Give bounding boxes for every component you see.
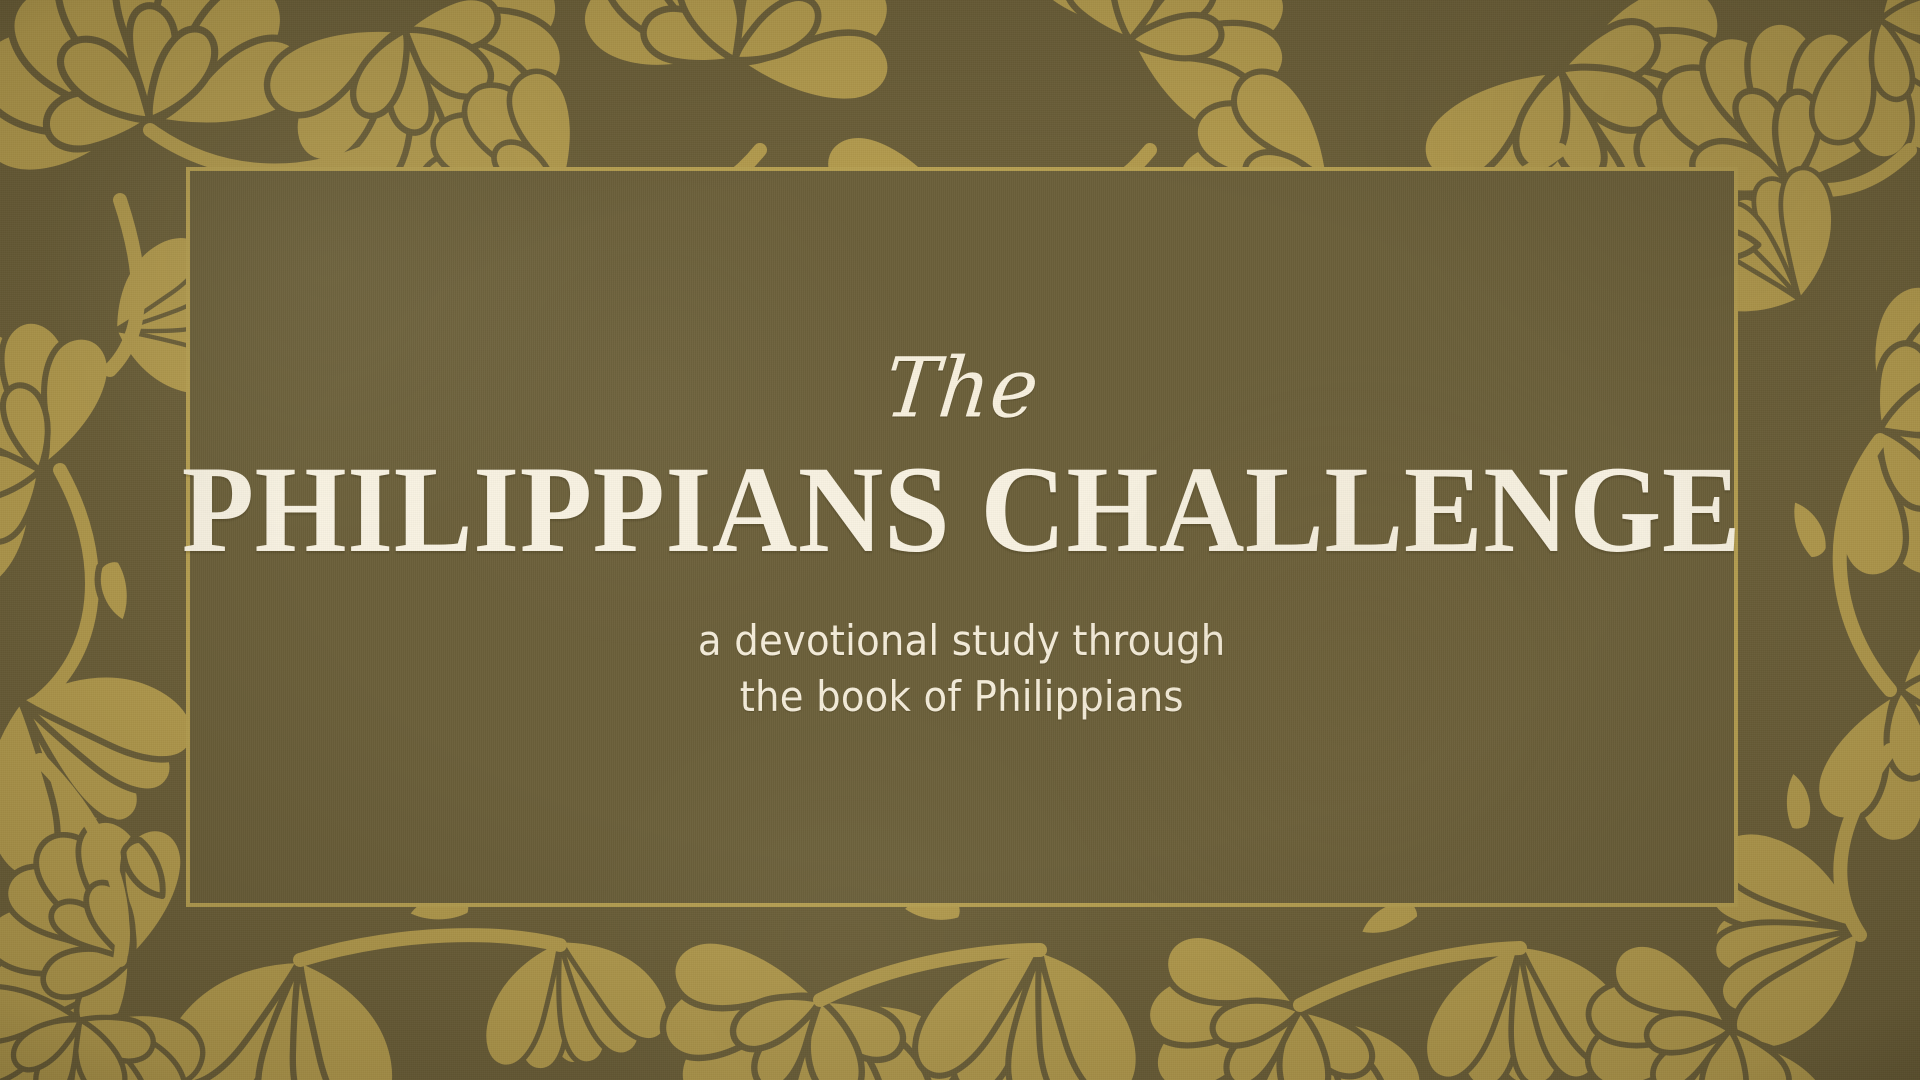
title-slide: The PHILIPPIANS CHALLENGE a devotional s… — [0, 0, 1920, 1080]
title-text-block: The PHILIPPIANS CHALLENGE a devotional s… — [186, 167, 1738, 907]
eyebrow-script-the: The — [881, 348, 1043, 431]
subtitle-line-1: a devotional study through — [698, 613, 1226, 668]
page-title: PHILIPPIANS CHALLENGE — [182, 450, 1742, 569]
subtitle: a devotional study through the book of P… — [698, 613, 1226, 724]
subtitle-line-2: the book of Philippians — [698, 669, 1226, 724]
